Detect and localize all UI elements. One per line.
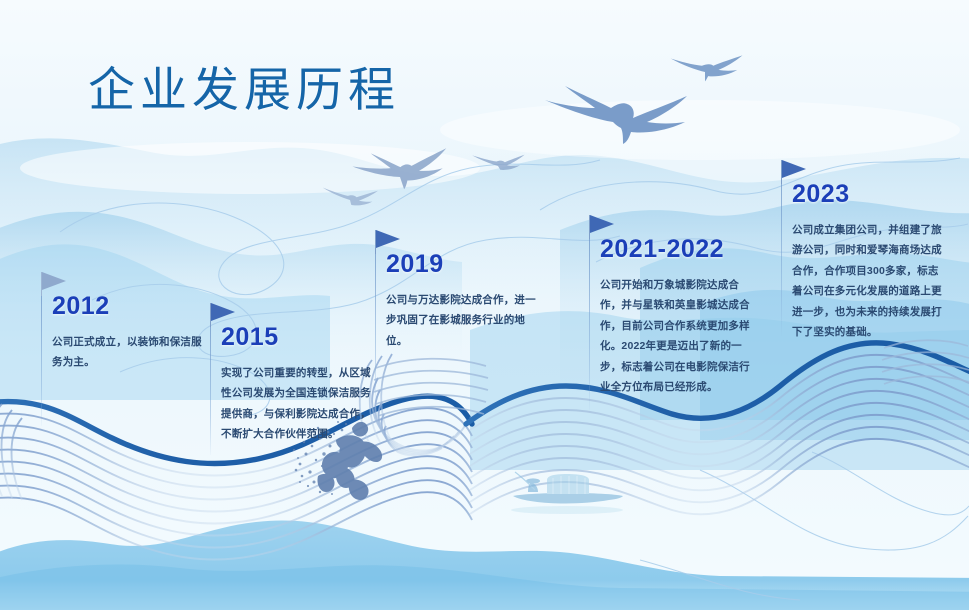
bird-icon [545, 86, 687, 144]
milestone-2021-2022[interactable]: 2021-2022 公司开始和万象城影院达成合作，并与星轶和英皇影城达成合作，目… [600, 237, 752, 398]
flag-pennant [782, 160, 806, 178]
milestone-year: 2015 [221, 325, 373, 350]
poster-canvas: 企业发展历程 2012 公司正式成立，以装饰和保洁服务为主。 2015 实现了公… [0, 0, 969, 610]
milestone-year: 2019 [386, 252, 546, 277]
milestone-year: 2021-2022 [600, 237, 752, 262]
dropline-2015 [210, 327, 211, 455]
milestone-year: 2023 [792, 182, 944, 207]
milestone-body: 公司正式成立，以装饰和保洁服务为主。 [52, 332, 202, 373]
dropline-2012 [41, 296, 42, 426]
milestone-body: 公司与万达影院达成合作，进一步巩固了在影城服务行业的地位。 [386, 290, 546, 351]
dropline-2021 [589, 239, 590, 411]
milestone-2015[interactable]: 2015 实现了公司重要的转型，从区域性公司发展为全国连锁保洁服务提供商，与保利… [221, 325, 373, 445]
bird-icon [472, 155, 524, 170]
milestone-2023[interactable]: 2023 公司成立集团公司，并组建了旅游公司，同时和爱琴海商场达成合作，合作项目… [792, 182, 944, 343]
bird-icon [671, 55, 743, 81]
dropline-2023 [781, 184, 782, 336]
flag-pennant [211, 303, 235, 321]
dropline-2019 [375, 254, 376, 402]
milestone-body: 公司成立集团公司，并组建了旅游公司，同时和爱琴海商场达成合作，合作项目300多家… [792, 220, 944, 343]
flag-pennant [590, 215, 614, 233]
flag-pennant [42, 272, 66, 290]
milestone-2019[interactable]: 2019 公司与万达影院达成合作，进一步巩固了在影城服务行业的地位。 [386, 252, 546, 351]
milestone-body: 公司开始和万象城影院达成合作，并与星轶和英皇影城达成合作，目前公司合作系统更加多… [600, 275, 752, 398]
page-title: 企业发展历程 [88, 62, 400, 117]
flag-pennant [376, 230, 400, 248]
bird-icon [351, 145, 450, 194]
bird-icon [322, 187, 378, 207]
milestone-year: 2012 [52, 294, 202, 319]
milestone-body: 实现了公司重要的转型，从区域性公司发展为全国连锁保洁服务提供商，与保利影院达成合… [221, 363, 373, 445]
milestone-2012[interactable]: 2012 公司正式成立，以装饰和保洁服务为主。 [52, 294, 202, 373]
